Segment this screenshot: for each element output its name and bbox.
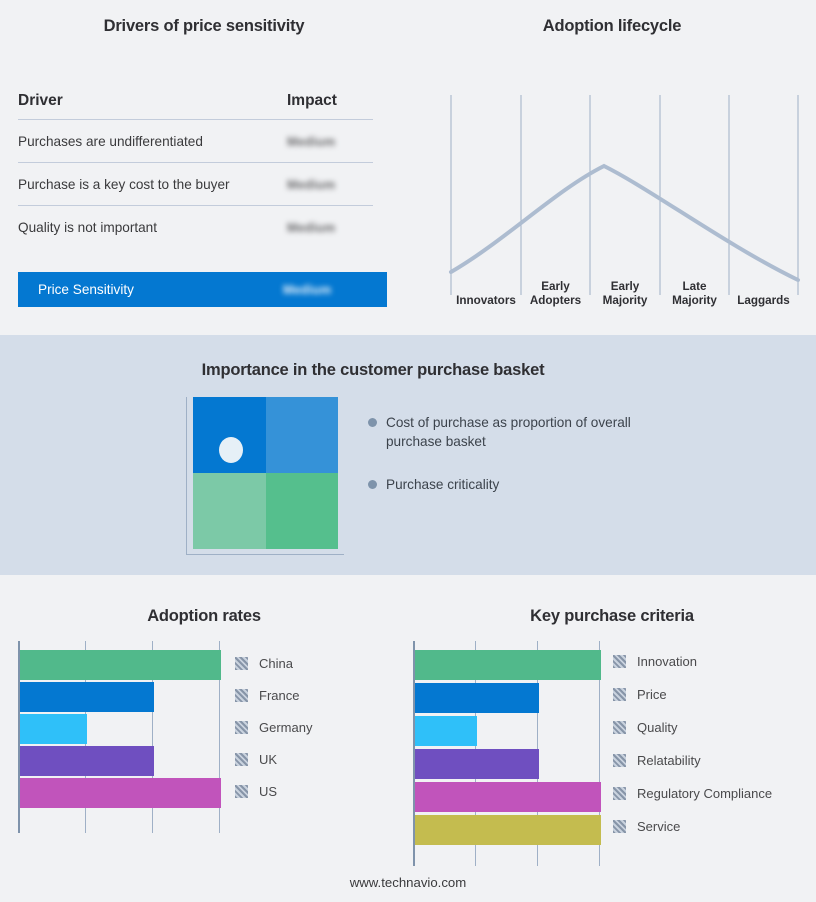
bar-us <box>20 778 221 808</box>
bullet-icon <box>368 418 377 427</box>
lifecycle-segment-innovators: Innovators <box>451 294 521 308</box>
basket-matrix <box>186 397 356 562</box>
matrix-position-marker <box>219 437 243 463</box>
legend-item-china: China <box>235 647 312 679</box>
legend-item-uk: UK <box>235 743 312 775</box>
key-purchase-criteria-chart <box>413 641 603 866</box>
impact-value-redacted: Medium <box>287 135 335 149</box>
bar-price <box>415 683 539 713</box>
legend-item-innovation: Innovation <box>613 645 772 678</box>
infographic-page: Drivers of price sensitivity Driver Impa… <box>0 0 816 902</box>
summary-impact: Medium <box>283 282 387 297</box>
adoption-rates-legend: China France Germany UK US <box>235 647 312 807</box>
legend-item: Purchase criticality <box>368 475 698 494</box>
hatch-swatch-icon <box>235 785 248 798</box>
legend-item: Cost of purchase as proportion of overal… <box>368 413 698 451</box>
hatch-swatch-icon <box>235 753 248 766</box>
legend-label: Service <box>637 819 680 834</box>
summary-label: Price Sensitivity <box>18 282 283 297</box>
legend-label: Purchase criticality <box>386 475 499 494</box>
impact-cell: Medium <box>287 134 373 149</box>
hatch-swatch-icon <box>235 721 248 734</box>
adoption-rates-chart <box>18 641 221 833</box>
legend-label: France <box>259 688 299 703</box>
legend-item-price: Price <box>613 678 772 711</box>
legend-label: China <box>259 656 293 671</box>
legend-label: Relatability <box>637 753 701 768</box>
lifecycle-segment-labels: Innovators EarlyAdopters EarlyMajority L… <box>426 80 806 310</box>
lifecycle-segment-early-majority: EarlyMajority <box>590 280 660 308</box>
driver-cell: Quality is not important <box>18 220 287 235</box>
lifecycle-segment-early-adopters: EarlyAdopters <box>521 280 590 308</box>
bar-quality <box>415 716 477 746</box>
table-row: Purchases are undifferentiated Medium <box>18 120 373 162</box>
legend-item-germany: Germany <box>235 711 312 743</box>
quadrant-bottom-left <box>193 473 266 549</box>
basket-legend: Cost of purchase as proportion of overal… <box>368 413 698 518</box>
lifecycle-panel: Adoption lifecycle Innovators EarlyAdopt… <box>408 0 816 335</box>
legend-label: Price <box>637 687 667 702</box>
lifecycle-chart: Innovators EarlyAdopters EarlyMajority L… <box>426 80 806 310</box>
bar-china <box>20 650 221 680</box>
impact-value-redacted: Medium <box>283 283 331 297</box>
basket-panel-title: Importance in the customer purchase bask… <box>0 361 746 380</box>
hatch-swatch-icon <box>613 820 626 833</box>
legend-label: US <box>259 784 277 799</box>
matrix-x-axis <box>186 554 344 555</box>
table-row: Purchase is a key cost to the buyer Medi… <box>18 163 373 205</box>
key-purchase-criteria-title: Key purchase criteria <box>408 607 816 626</box>
column-header-driver: Driver <box>18 92 287 110</box>
bar-regulatory-compliance <box>415 782 601 812</box>
lifecycle-segment-laggards: Laggards <box>729 294 798 308</box>
legend-label: Cost of purchase as proportion of overal… <box>386 413 648 451</box>
bar-service <box>415 815 601 845</box>
legend-label: Germany <box>259 720 312 735</box>
column-header-impact: Impact <box>287 92 373 110</box>
legend-item-us: US <box>235 775 312 807</box>
adoption-rates-panel: Adoption rates China France Germa <box>0 575 408 902</box>
hatch-swatch-icon <box>235 657 248 670</box>
footer-url: www.technavio.com <box>0 875 816 890</box>
impact-value-redacted: Medium <box>287 178 335 192</box>
bullet-icon <box>368 480 377 489</box>
legend-item-quality: Quality <box>613 711 772 744</box>
legend-label: Quality <box>637 720 677 735</box>
quadrant-bottom-right <box>266 473 339 549</box>
lifecycle-segment-late-majority: LateMajority <box>660 280 729 308</box>
bar-uk <box>20 746 154 776</box>
basket-panel: Importance in the customer purchase bask… <box>0 335 816 575</box>
table-row: Quality is not important Medium <box>18 206 373 248</box>
driver-cell: Purchase is a key cost to the buyer <box>18 177 287 192</box>
impact-cell: Medium <box>287 220 373 235</box>
hatch-swatch-icon <box>613 688 626 701</box>
matrix-y-axis <box>186 397 187 555</box>
key-purchase-criteria-panel: Key purchase criteria Innovation Price <box>408 575 816 902</box>
adoption-rates-title: Adoption rates <box>0 607 408 626</box>
driver-cell: Purchases are undifferentiated <box>18 134 287 149</box>
matrix-quadrants <box>193 397 338 549</box>
drivers-panel: Drivers of price sensitivity Driver Impa… <box>0 0 408 335</box>
bar-relatability <box>415 749 539 779</box>
bar-france <box>20 682 154 712</box>
hatch-swatch-icon <box>613 721 626 734</box>
impact-value-redacted: Medium <box>287 221 335 235</box>
bar-innovation <box>415 650 601 680</box>
legend-label: Regulatory Compliance <box>637 786 772 801</box>
bar-germany <box>20 714 87 744</box>
hatch-swatch-icon <box>613 754 626 767</box>
legend-item-service: Service <box>613 810 772 843</box>
legend-item-relatability: Relatability <box>613 744 772 777</box>
legend-item-france: France <box>235 679 312 711</box>
legend-item-regulatory-compliance: Regulatory Compliance <box>613 777 772 810</box>
hatch-swatch-icon <box>235 689 248 702</box>
legend-label: UK <box>259 752 277 767</box>
hatch-swatch-icon <box>613 787 626 800</box>
drivers-table-header: Driver Impact <box>18 92 373 119</box>
quadrant-top-right <box>266 397 339 473</box>
drivers-panel-title: Drivers of price sensitivity <box>0 17 408 36</box>
lifecycle-panel-title: Adoption lifecycle <box>408 17 816 36</box>
price-sensitivity-summary-row: Price Sensitivity Medium <box>18 272 387 307</box>
key-purchase-criteria-legend: Innovation Price Quality Relatability Re… <box>613 645 772 843</box>
hatch-swatch-icon <box>613 655 626 668</box>
impact-cell: Medium <box>287 177 373 192</box>
drivers-table: Driver Impact Purchases are undifferenti… <box>18 92 373 248</box>
legend-label: Innovation <box>637 654 697 669</box>
